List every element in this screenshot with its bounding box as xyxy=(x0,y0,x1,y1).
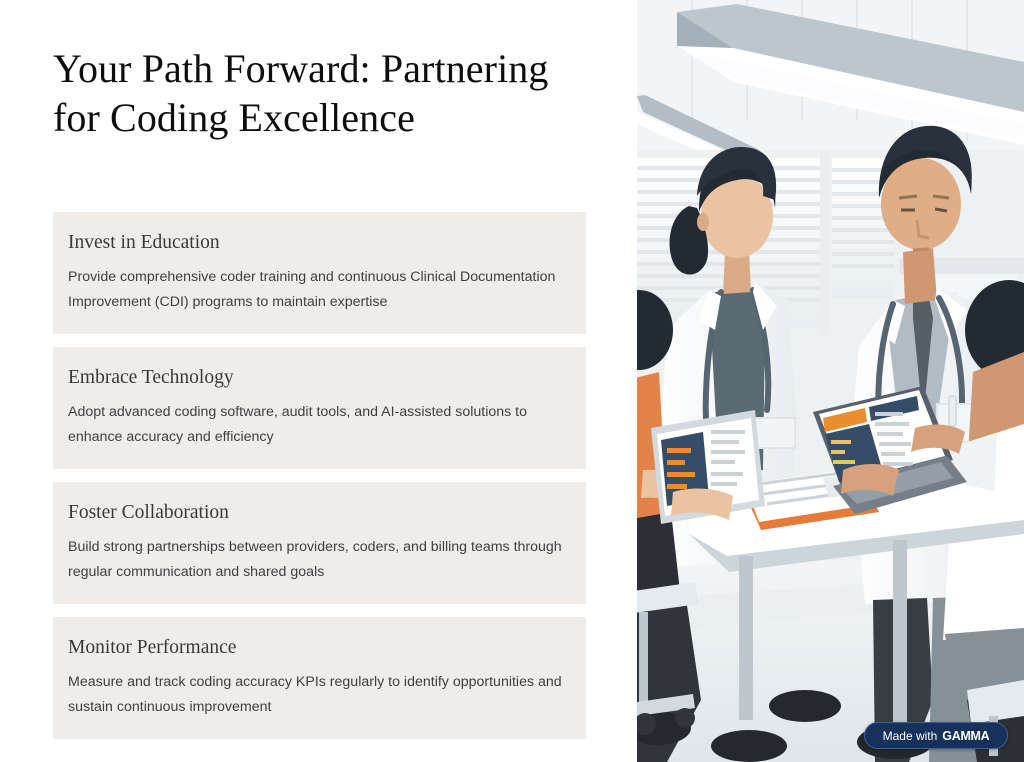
card-title: Embrace Technology xyxy=(68,366,570,390)
card-body: Adopt advanced coding software, audit to… xyxy=(68,400,570,449)
clinic-team-illustration xyxy=(637,0,1024,762)
illustration-panel xyxy=(637,0,1024,762)
list-item: Foster Collaboration Build strong partne… xyxy=(53,482,586,604)
page-title: Your Path Forward: Partnering for Coding… xyxy=(53,44,573,142)
list-item: Embrace Technology Adopt advanced coding… xyxy=(53,347,586,469)
content-column: Your Path Forward: Partnering for Coding… xyxy=(0,0,637,762)
gamma-logo: GAMMA xyxy=(942,729,989,743)
card-title: Invest in Education xyxy=(68,231,570,255)
slide-root: Your Path Forward: Partnering for Coding… xyxy=(0,0,1024,762)
card-title: Foster Collaboration xyxy=(68,501,570,525)
recommendation-card-list: Invest in Education Provide comprehensiv… xyxy=(53,212,586,752)
card-body: Provide comprehensive coder training and… xyxy=(68,265,570,314)
card-title: Monitor Performance xyxy=(68,636,570,660)
card-body: Build strong partnerships between provid… xyxy=(68,535,570,584)
list-item: Monitor Performance Measure and track co… xyxy=(53,617,586,739)
made-with-gamma-badge[interactable]: Made with GAMMA xyxy=(864,722,1008,749)
list-item: Invest in Education Provide comprehensiv… xyxy=(53,212,586,334)
badge-made-with-label: Made with xyxy=(883,729,938,743)
card-body: Measure and track coding accuracy KPIs r… xyxy=(68,670,570,719)
